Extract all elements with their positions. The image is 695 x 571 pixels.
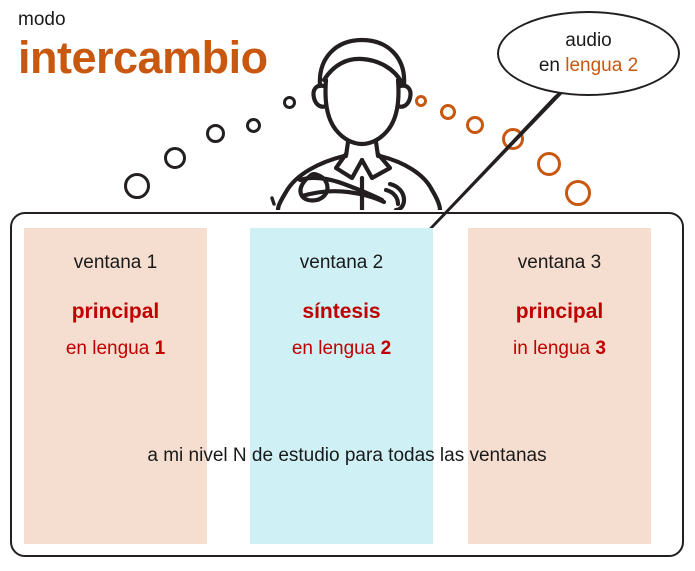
window-column-3-mode: principal <box>468 300 651 323</box>
dark-bubble-icon <box>206 124 225 143</box>
speech-balloon-line-1: audio <box>565 29 612 53</box>
diagram-canvas: modo intercambio <box>0 0 695 571</box>
dark-bubble-icon <box>164 147 186 169</box>
dark-bubble-icon <box>124 173 150 199</box>
window-column-3-language-number: 3 <box>595 338 606 359</box>
speech-balloon-text: audio en lengua 2 <box>499 13 678 94</box>
window-column-2: ventana 2 síntesis en lengua 2 <box>250 228 433 544</box>
window-column-2-content: ventana 2 síntesis en lengua 2 <box>250 253 433 360</box>
window-column-2-language: en lengua 2 <box>250 339 433 360</box>
person-crossed-arms-illustration <box>262 28 462 210</box>
window-column-1-language-prefix: en lengua <box>66 338 155 359</box>
window-column-3-language-prefix: in lengua <box>513 338 595 359</box>
window-column-2-mode: síntesis <box>250 300 433 323</box>
audio-speech-balloon: audio en lengua 2 <box>497 11 680 96</box>
orange-bubble-icon <box>565 180 591 206</box>
orange-bubble-icon <box>440 104 456 120</box>
window-column-1-language-number: 1 <box>155 338 166 359</box>
window-column-1-content: ventana 1 principal en lengua 1 <box>24 253 207 360</box>
window-column-3-content: ventana 3 principal in lengua 3 <box>468 253 651 360</box>
window-column-1-mode: principal <box>24 300 207 323</box>
window-column-3: ventana 3 principal in lengua 3 <box>468 228 651 544</box>
window-column-1: ventana 1 principal en lengua 1 <box>24 228 207 544</box>
speech-balloon-line-2: en lengua 2 <box>539 54 638 78</box>
page-subtitle: modo <box>18 10 348 29</box>
orange-bubble-icon <box>502 128 524 150</box>
window-column-1-title: ventana 1 <box>24 253 207 274</box>
footer-caption: a mi nivel N de estudio para todas las v… <box>10 446 684 467</box>
orange-bubble-icon <box>466 116 484 134</box>
window-column-1-language: en lengua 1 <box>24 339 207 360</box>
orange-bubble-icon <box>415 95 427 107</box>
speech-balloon-line-2-accent: lengua 2 <box>565 55 638 76</box>
window-column-2-title: ventana 2 <box>250 253 433 274</box>
window-column-3-title: ventana 3 <box>468 253 651 274</box>
window-column-2-language-prefix: en lengua <box>292 338 381 359</box>
speech-balloon-line-2-prefix: en <box>539 55 565 76</box>
dark-bubble-icon <box>246 118 261 133</box>
window-column-2-language-number: 2 <box>381 338 392 359</box>
orange-bubble-icon <box>537 152 561 176</box>
window-column-3-language: in lengua 3 <box>468 339 651 360</box>
